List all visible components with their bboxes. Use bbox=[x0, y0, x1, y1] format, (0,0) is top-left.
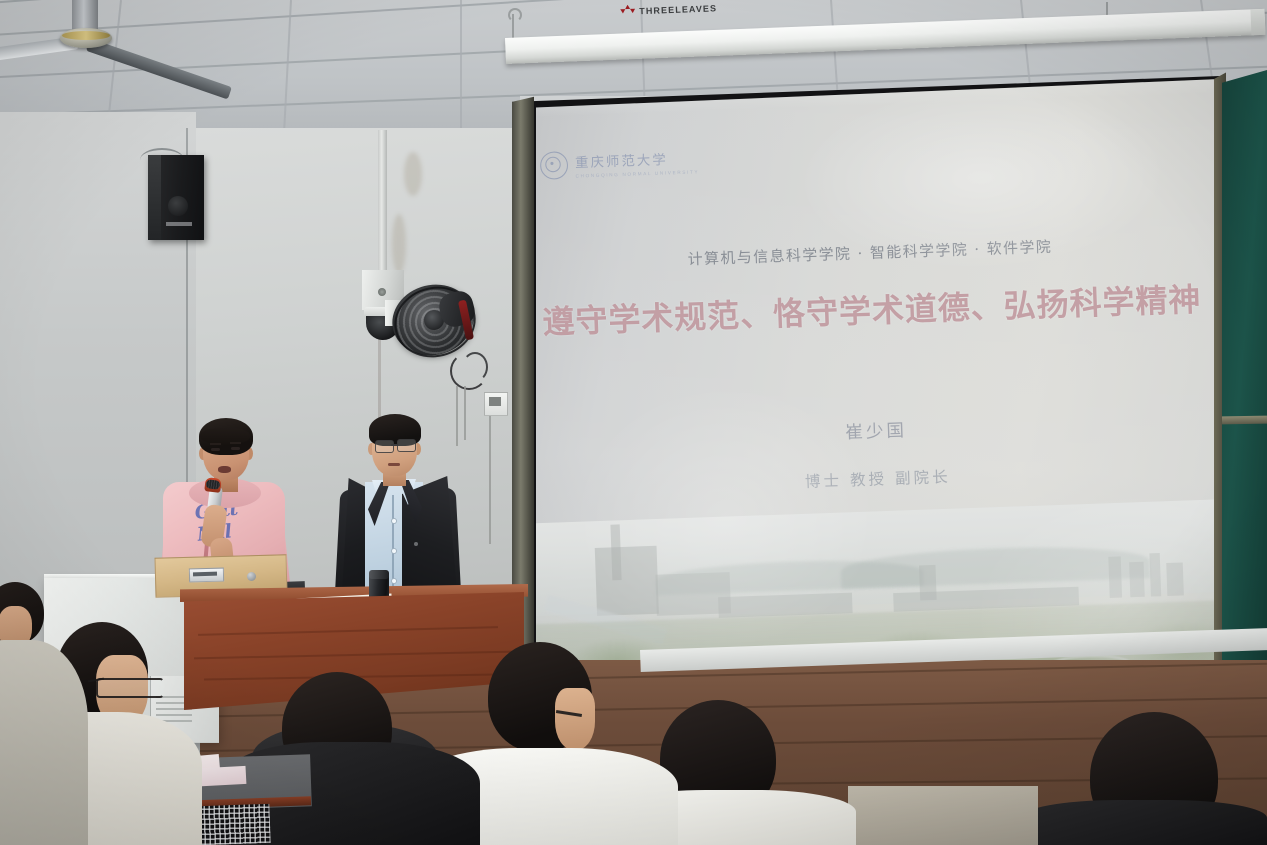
outlet-socket-icon bbox=[489, 397, 501, 406]
slide-title: 遵守学术规范、恪守学术道德、弘扬科学精神 bbox=[536, 273, 1214, 344]
chalkboard-rail bbox=[1222, 416, 1267, 425]
seat-row bbox=[848, 786, 1038, 845]
housing-endcap bbox=[1250, 9, 1265, 36]
lecture-hall-photo: THREELEAVES 智慧教室 重庆师范大学 CHONGQING NORMAL… bbox=[0, 0, 1267, 845]
wall-conduit bbox=[378, 130, 387, 272]
microphone-grill-icon bbox=[206, 479, 221, 490]
hair-fringe bbox=[200, 428, 250, 445]
mouth bbox=[218, 466, 231, 473]
eyeglasses-icon bbox=[375, 440, 394, 453]
wall-speaker-side bbox=[148, 155, 161, 240]
eye bbox=[231, 447, 240, 450]
university-logo-text: 重庆师范大学 CHONGQING NORMAL UNIVERSITY bbox=[575, 147, 700, 178]
eye bbox=[211, 448, 220, 451]
audience-face bbox=[555, 688, 595, 750]
jacket-button bbox=[414, 542, 418, 546]
audience-body bbox=[1020, 800, 1267, 845]
mouth bbox=[388, 463, 400, 466]
ceiling-fan-rod bbox=[72, 0, 98, 30]
eyebrow bbox=[230, 442, 241, 444]
wall-fan-pull-cord[interactable] bbox=[462, 352, 488, 382]
eyebrow bbox=[210, 443, 221, 445]
eyeglasses-icon bbox=[96, 678, 164, 698]
audience-body bbox=[0, 640, 88, 845]
ceiling-fan-trim bbox=[62, 31, 110, 40]
slide-presenter-name: 崔少国 bbox=[536, 404, 1214, 454]
university-logo: 重庆师范大学 CHONGQING NORMAL UNIVERSITY bbox=[540, 147, 700, 180]
three-leaf-triangle-logo-icon bbox=[620, 4, 635, 18]
mount-screw bbox=[378, 288, 386, 296]
thermos-cap bbox=[369, 570, 389, 579]
screen-brand-text: THREELEAVES bbox=[639, 3, 717, 16]
speaker-brand-label bbox=[166, 222, 192, 226]
name-plate-text-line bbox=[193, 572, 217, 577]
slide-department-line: 计算机与信息科学学院 · 智能科学学院 · 软件学院 bbox=[536, 229, 1214, 275]
podium-knob[interactable] bbox=[247, 572, 256, 581]
university-name-cn: 重庆师范大学 bbox=[575, 147, 699, 171]
university-seal-icon bbox=[540, 151, 569, 180]
slide-presenter-role: 博士 教授 副院长 bbox=[536, 456, 1214, 502]
eyeglasses-icon bbox=[397, 439, 416, 452]
speaker-cone-icon bbox=[168, 196, 188, 216]
projector-screen-surface[interactable]: 智慧教室 重庆师范大学 CHONGQING NORMAL UNIVERSITY … bbox=[536, 78, 1214, 718]
presentation-slide: 智慧教室 重庆师范大学 CHONGQING NORMAL UNIVERSITY … bbox=[536, 78, 1214, 718]
eyeglasses-bridge bbox=[391, 444, 398, 446]
green-chalkboard bbox=[1222, 70, 1267, 710]
